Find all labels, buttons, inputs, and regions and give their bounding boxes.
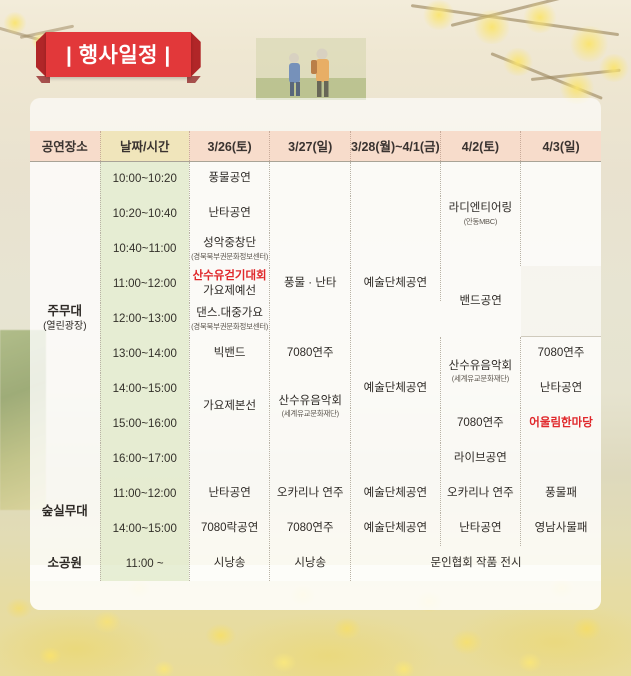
- cell-forest-week-1100: 예술단체공연: [351, 476, 441, 511]
- cell-403-1040: [521, 231, 601, 266]
- cell-week-1200: [351, 301, 441, 336]
- cell-326-1020: 난타공연: [189, 196, 270, 231]
- table-row: 14:00~15:00 7080락공연 7080연주 예술단체공연 난타공연 영…: [30, 511, 601, 546]
- time-slot: 11:00~12:00: [100, 266, 189, 301]
- cell-403-1000: [521, 161, 601, 196]
- cell-327-1000-1100: [270, 161, 351, 266]
- cell-403-1400: 난타공연: [521, 371, 601, 406]
- cell-327-1100: 풍물 · 난타: [270, 266, 351, 301]
- cell-forest-week-1400: 예술단체공연: [351, 511, 441, 546]
- cell-402-1500: 7080연주: [440, 406, 520, 441]
- time-slot: 10:40~11:00: [100, 231, 189, 266]
- cell-forest-327-1100: 오카리나 연주: [270, 476, 351, 511]
- cell-forest-402-1100: 오카리나 연주: [440, 476, 520, 511]
- cell-forest-326-1100: 난타공연: [189, 476, 270, 511]
- time-slot: 16:00~17:00: [100, 441, 189, 476]
- venue-forest-stage-name: 숲실무대: [42, 504, 88, 518]
- venue-small-park: 소공원: [30, 546, 100, 581]
- cell-403-1500: 어울림한마당: [521, 406, 601, 441]
- cell-402-music-festival-sub: (세계유교문화재단): [441, 374, 520, 383]
- cell-326-1040-label: 성악중창단: [203, 237, 256, 249]
- cell-326-1600: [189, 441, 270, 476]
- cell-402-orienteering: 라디엔티어링 (안동MBC): [440, 161, 520, 266]
- table-row: 주무대 (열린광장) 10:00~10:20 풍물공연 라디엔티어링 (안동MB…: [30, 161, 601, 196]
- cell-326-1100-red: 산수유걷기대회: [193, 270, 267, 282]
- header-day-328-401: 3/28(월)~4/1(금): [351, 131, 441, 161]
- cell-326-1200-label: 댄스.대중가요: [196, 307, 263, 319]
- cell-forest-327-1400: 7080연주: [270, 511, 351, 546]
- cell-week-1400: 예술단체공연: [351, 371, 441, 406]
- cell-327-music-festival-label: 산수유음악회: [278, 395, 341, 407]
- cell-402-orienteering-sub: (안동MBC): [441, 217, 520, 226]
- cell-327-1300: 7080연주: [270, 336, 351, 371]
- table-row: 16:00~17:00 라이브공연: [30, 441, 601, 476]
- cell-326-1200-sub: (경북북부권문화정보센터): [190, 322, 270, 331]
- cell-327-music-festival-sub: (세계유교문화재단): [270, 409, 350, 418]
- time-slot: 10:00~10:20: [100, 161, 189, 196]
- table-row: 소공원 11:00 ~ 시낭송 시낭송 문인협회 작품 전시: [30, 546, 601, 581]
- cell-week-1000-1100: [351, 161, 441, 266]
- venue-main-stage: 주무대 (열린광장): [30, 161, 100, 476]
- cell-park-exhibition: 문인협회 작품 전시: [351, 546, 601, 581]
- header-time: 날짜/시간: [100, 131, 189, 161]
- cell-326-1040: 성악중창단 (경북북부권문화정보센터): [189, 231, 270, 266]
- header-day-403: 4/3(일): [521, 131, 601, 161]
- cell-403-1300: 7080연주: [521, 336, 601, 371]
- time-slot: 15:00~16:00: [100, 406, 189, 441]
- cell-326-1100-rest: 가요제예선: [203, 285, 256, 297]
- cell-326-1100: 산수유걷기대회 가요제예선: [189, 266, 270, 301]
- venue-forest-stage: 숲실무대: [30, 476, 100, 546]
- cell-week-1500: [351, 406, 441, 441]
- header-day-327: 3/27(일): [270, 131, 351, 161]
- time-slot: 10:20~10:40: [100, 196, 189, 231]
- title-banner: | 행사일정 |: [46, 32, 191, 77]
- cell-forest-402-1400: 난타공연: [440, 511, 520, 546]
- table-body: 주무대 (열린광장) 10:00~10:20 풍물공연 라디엔티어링 (안동MB…: [30, 161, 601, 581]
- cell-326-final: 가요제본선: [189, 371, 270, 441]
- cell-week-1300: [351, 336, 441, 371]
- time-slot: 13:00~14:00: [100, 336, 189, 371]
- cell-326-1200: 댄스.대중가요 (경북북부권문화정보센터): [189, 301, 270, 336]
- venue-small-park-name: 소공원: [48, 556, 83, 570]
- cell-forest-403-1400: 영남사물패: [521, 511, 601, 546]
- header-venue: 공연장소: [30, 131, 100, 161]
- cell-park-326: 시낭송: [189, 546, 270, 581]
- cell-326-1040-sub: (경북북부권문화정보센터): [190, 252, 270, 261]
- time-slot: 12:00~13:00: [100, 301, 189, 336]
- cell-326-1000: 풍물공연: [189, 161, 270, 196]
- cell-402-music-festival: 산수유음악회 (세계유교문화재단): [440, 336, 520, 406]
- header-day-326: 3/26(토): [189, 131, 270, 161]
- table-row: 13:00~14:00 빅밴드 7080연주 산수유음악회 (세계유교문화재단)…: [30, 336, 601, 371]
- cell-403-1020: [521, 196, 601, 231]
- venue-main-stage-name: 주무대: [48, 304, 83, 318]
- cell-week-1100: 예술단체공연: [351, 266, 441, 301]
- schedule-table: 공연장소 날짜/시간 3/26(토) 3/27(일) 3/28(월)~4/1(금…: [30, 131, 601, 582]
- venue-main-stage-sub: (열린광장): [30, 320, 100, 334]
- cell-forest-403-1100: 풍물패: [521, 476, 601, 511]
- header-day-402: 4/2(토): [440, 131, 520, 161]
- time-slot: 14:00~15:00: [100, 511, 189, 546]
- cell-327-music-festival: 산수유음악회 (세계유교문화재단): [270, 371, 351, 441]
- cell-403-1600: [521, 441, 601, 476]
- cell-326-1300: 빅밴드: [189, 336, 270, 371]
- hikers-photo: [256, 38, 366, 100]
- time-slot: 14:00~15:00: [100, 371, 189, 406]
- table-row: 11:00~12:00 산수유걷기대회 가요제예선 풍물 · 난타 예술단체공연…: [30, 266, 601, 301]
- cell-403-1100: 밴드공연: [440, 266, 520, 336]
- header-row: 공연장소 날짜/시간 3/26(토) 3/27(일) 3/28(월)~4/1(금…: [30, 131, 601, 161]
- cell-402-1600: 라이브공연: [440, 441, 520, 476]
- time-slot: 11:00 ~: [100, 546, 189, 581]
- cell-327-1600: [270, 441, 351, 476]
- table-header: 공연장소 날짜/시간 3/26(토) 3/27(일) 3/28(월)~4/1(금…: [30, 131, 601, 161]
- cell-forest-326-1400: 7080락공연: [189, 511, 270, 546]
- cell-402-orienteering-label: 라디엔티어링: [449, 202, 512, 214]
- cell-327-1200: [270, 301, 351, 336]
- cell-week-1600: [351, 441, 441, 476]
- table-row: 숲실무대 11:00~12:00 난타공연 오카리나 연주 예술단체공연 오카리…: [30, 476, 601, 511]
- page-title: | 행사일정 |: [46, 32, 191, 77]
- cell-park-327: 시낭송: [270, 546, 351, 581]
- time-slot: 11:00~12:00: [100, 476, 189, 511]
- cell-402-music-festival-label: 산수유음악회: [449, 360, 512, 372]
